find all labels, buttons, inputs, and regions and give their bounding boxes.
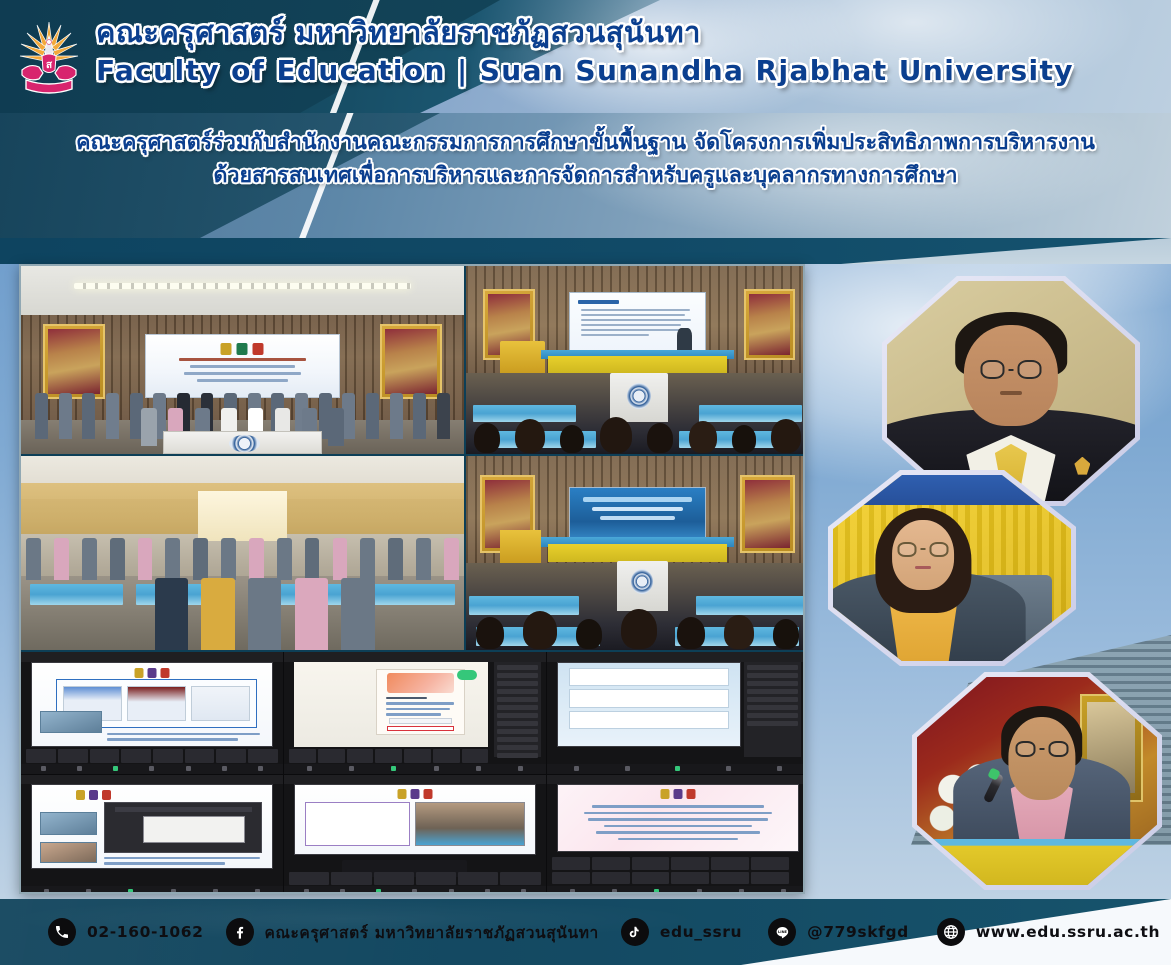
footer-phone-label: 02-160-1062 (87, 923, 204, 941)
footer-contact-line[interactable]: LINE @779skfgd (768, 918, 909, 946)
svg-text:ส: ส (46, 60, 53, 71)
zoom-screenshot (21, 775, 283, 895)
page-header: ส คณะครุศาสตร์ มหาวิทยาลัยราชภัฏสวนสุนัน… (0, 0, 1171, 113)
zoom-screenshot (547, 775, 805, 895)
footer-contact-phone[interactable]: 02-160-1062 (48, 918, 204, 946)
ssru-logo: ส (12, 12, 86, 102)
zoom-screenshot (21, 652, 283, 774)
header-title-block: คณะครุศาสตร์ มหาวิทยาลัยราชภัฏสวนสุนันทา… (96, 14, 1046, 87)
page-footer: 02-160-1062 คณะครุศาสตร์ มหาวิทยาลัยราชภ… (0, 899, 1171, 965)
footer-contact-list: 02-160-1062 คณะครุศาสตร์ มหาวิทยาลัยราชภ… (0, 899, 1171, 965)
globe-icon (937, 918, 965, 946)
svg-text:LINE: LINE (778, 930, 788, 934)
footer-tiktok-label: edu_ssru (660, 923, 742, 941)
facebook-icon (226, 918, 254, 946)
footer-line-label: @779skfgd (807, 923, 909, 941)
banner-line-2: ด้วยสารสนเทศเพื่อการบริหารและการจัดการสำ… (14, 160, 1157, 193)
banner-line-1: คณะครุศาสตร์ร่วมกับสำนักงานคณะกรรมการการ… (14, 127, 1157, 160)
zoom-screenshot (284, 775, 546, 895)
photo-group-photo-auditorium (21, 266, 464, 454)
ssru-emblem-icon: ส (12, 12, 86, 102)
photo-participants-standing-hall (21, 456, 464, 650)
phone-icon (48, 918, 76, 946)
photo-collage (19, 264, 805, 894)
photo-zoom-meeting-screenshots-grid (21, 652, 805, 894)
poster-canvas: ส คณะครุศาสตร์ มหาวิทยาลัยราชภัฏสวนสุนัน… (0, 0, 1171, 965)
portrait-executive-two (828, 470, 1076, 666)
footer-contact-facebook[interactable]: คณะครุศาสตร์ มหาวิทยาลัยราชภัฏสวนสุนันทา (226, 918, 599, 946)
photo-seminar-audience-presentation (466, 266, 805, 454)
photo-seminar-room-wide-shot (466, 456, 805, 650)
line-icon: LINE (768, 918, 796, 946)
footer-website-label: www.edu.ssru.ac.th (976, 923, 1160, 941)
tiktok-icon (621, 918, 649, 946)
zoom-screenshot (547, 652, 805, 774)
header-title-thai: คณะครุศาสตร์ มหาวิทยาลัยราชภัฏสวนสุนันทา (96, 14, 1046, 50)
footer-contact-website[interactable]: www.edu.ssru.ac.th (937, 918, 1160, 946)
footer-facebook-label: คณะครุศาสตร์ มหาวิทยาลัยราชภัฏสวนสุนันทา (265, 920, 599, 945)
footer-contact-tiktok[interactable]: edu_ssru (621, 918, 742, 946)
portrait-speaker-with-microphone (912, 672, 1162, 890)
header-title-english: Faculty of Education | Suan Sunandha Rja… (96, 54, 1046, 87)
zoom-screenshot (284, 652, 546, 774)
banner-band: คณะครุศาสตร์ร่วมกับสำนักงานคณะกรรมการการ… (0, 113, 1171, 238)
banner-text-block: คณะครุศาสตร์ร่วมกับสำนักงานคณะกรรมการการ… (0, 127, 1171, 192)
